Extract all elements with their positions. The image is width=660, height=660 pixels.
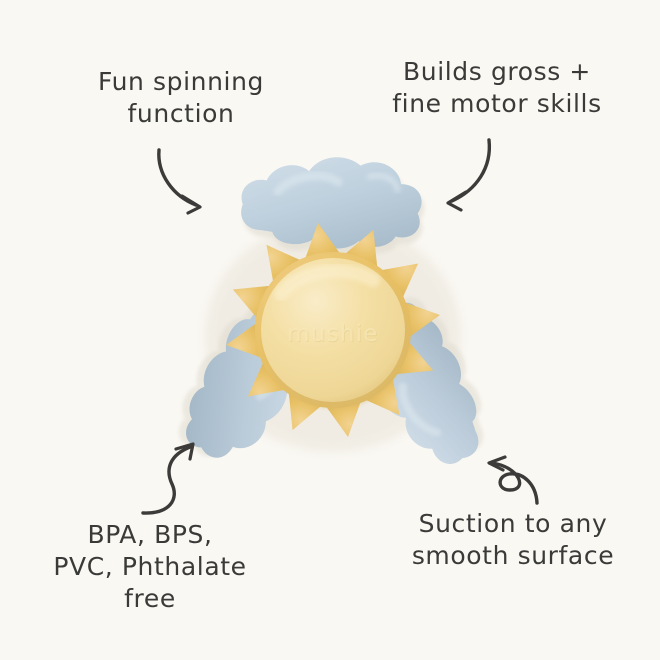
brand-emboss: mushie mushie [287,321,379,348]
callout-suction-surface: Suction to any smooth surface [382,508,644,572]
callout-builds-motor-skills: Builds gross + fine motor skills [358,56,636,120]
product-infographic: mushie mushie [0,0,660,660]
callout-material-free: BPA, BPS, PVC, Phthalate free [16,519,284,615]
product-image: mushie mushie [150,130,510,480]
brand-emboss-text: mushie [287,321,378,347]
callout-fun-spinning-function: Fun spinning function [46,66,316,130]
